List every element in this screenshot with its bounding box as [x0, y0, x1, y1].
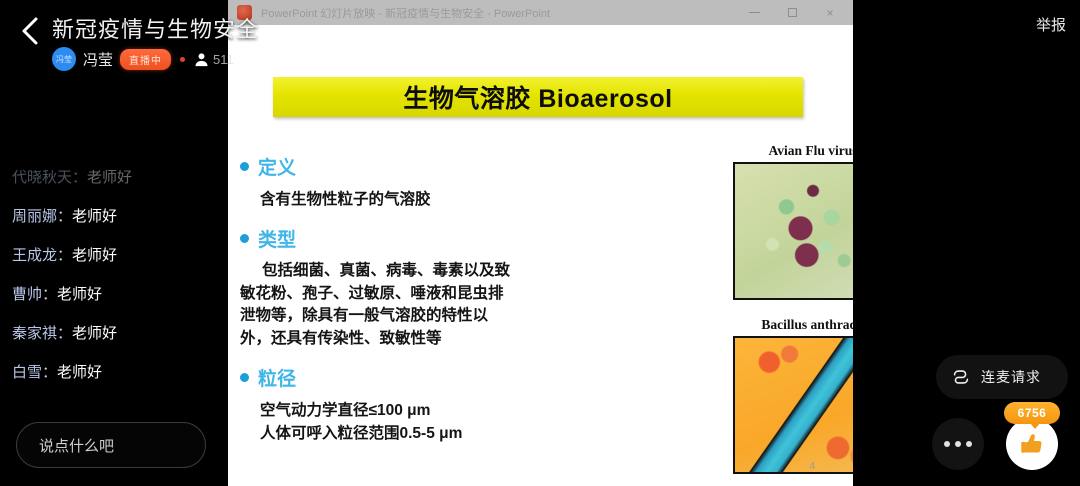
link-mic-icon: [950, 366, 972, 388]
maximize-button[interactable]: [773, 0, 811, 25]
slide-section-definition: 定义 含有生物性粒子的气溶胶: [240, 153, 512, 211]
powerpoint-window: PowerPoint 幻灯片放映 - 新冠疫情与生物安全 - PowerPoin…: [228, 0, 853, 486]
slide-section-particle-size: 粒径 空气动力学直径≤100 μm 人体可呼入粒径范围0.5-5 μm: [240, 364, 512, 446]
photo-image-avian-flu: [733, 162, 853, 300]
bullet-heading: 定义: [240, 153, 512, 180]
chat-text: 老师好: [72, 208, 117, 225]
chat-username: 曹帅: [12, 286, 42, 303]
host-info-row[interactable]: 冯莹 冯莹 直播中 511: [52, 47, 234, 71]
live-header: 新冠疫情与生物安全 冯莹 冯莹 直播中 511: [0, 0, 300, 100]
chat-message: 周丽娜：老师好: [12, 209, 216, 224]
bullet-dot-icon: [240, 373, 249, 382]
like-count-badge: 6756: [1004, 402, 1060, 424]
chat-text: 老师好: [72, 325, 117, 342]
live-status-badge: 直播中: [120, 49, 171, 70]
slide-canvas: 生物气溶胶 Bioaerosol 定义 含有生物性粒子的气溶胶 类型 包括细菌、…: [228, 25, 853, 486]
bullet-dot-icon: [240, 234, 249, 243]
ellipsis-icon: [944, 441, 950, 447]
mic-request-label: 连麦请求: [981, 367, 1041, 387]
back-button[interactable]: [18, 14, 44, 48]
photo-caption: Bacillus anthracis: [733, 317, 853, 333]
chat-text: 老师好: [72, 247, 117, 264]
bullet-dot-icon: [240, 162, 249, 171]
chat-separator: ：: [42, 286, 57, 303]
window-title: PowerPoint 幻灯片放映 - 新冠疫情与生物安全 - PowerPoin…: [261, 5, 550, 21]
chat-message-list[interactable]: 代晓秋天：老师好 周丽娜：老师好 王成龙：老师好 曹帅：老师好 秦家祺：老师好 …: [0, 170, 228, 400]
mic-request-button[interactable]: 连麦请求: [936, 355, 1068, 399]
chat-separator: ：: [42, 364, 57, 381]
section-heading-definition: 定义: [258, 153, 296, 180]
person-icon: [194, 52, 209, 67]
room-title: 新冠疫情与生物安全: [52, 12, 259, 44]
chat-username: 代晓秋天: [12, 170, 72, 186]
report-button[interactable]: 举报: [1036, 14, 1066, 35]
chat-input[interactable]: 说点什么吧: [16, 422, 206, 468]
chat-message: 王成龙：老师好: [12, 248, 216, 263]
section-text-definition: 含有生物性粒子的气溶胶: [240, 188, 512, 211]
photo-image-bacillus: [733, 336, 853, 474]
photo-bacillus: Bacillus anthracis: [733, 317, 853, 474]
chat-message: 秦家祺：老师好: [12, 326, 216, 341]
slide-title-bar: 生物气溶胶 Bioaerosol: [273, 77, 803, 117]
section-heading-particle-size: 粒径: [258, 364, 296, 391]
chat-text: 老师好: [87, 170, 132, 186]
slide-number: 4: [809, 461, 815, 472]
photo-caption: Avian Flu virus: [733, 143, 853, 159]
slide-title: 生物气溶胶 Bioaerosol: [403, 79, 672, 115]
live-stream-screen: PowerPoint 幻灯片放映 - 新冠疫情与生物安全 - PowerPoin…: [0, 0, 1080, 486]
host-name: 冯莹: [83, 49, 113, 70]
recording-dot-icon: [180, 57, 185, 62]
chat-text: 老师好: [57, 364, 102, 381]
more-options-button[interactable]: [932, 418, 984, 470]
powerpoint-titlebar: PowerPoint 幻灯片放映 - 新冠疫情与生物安全 - PowerPoin…: [228, 0, 853, 25]
window-controls: ×: [735, 0, 849, 25]
section-text-particle-size-2: 人体可呼入粒径范围0.5-5 μm: [240, 422, 512, 445]
bullet-heading: 粒径: [240, 364, 512, 391]
ellipsis-icon: [966, 441, 972, 447]
section-text-particle-size-1: 空气动力学直径≤100 μm: [240, 399, 512, 422]
chat-username: 秦家祺: [12, 325, 57, 342]
minimize-icon: [749, 12, 760, 13]
chat-message: 白雪：老师好: [12, 365, 216, 380]
section-heading-types: 类型: [258, 225, 296, 252]
chat-separator: ：: [72, 170, 87, 186]
chat-separator: ：: [57, 208, 72, 225]
avatar[interactable]: 冯莹: [52, 47, 76, 71]
photo-avian-flu: Avian Flu virus: [733, 143, 853, 300]
section-text-types: 包括细菌、真菌、病毒、毒素以及致敏花粉、孢子、过敏原、唾液和昆虫排泄物等，除具有…: [240, 260, 512, 350]
ellipsis-icon: [955, 441, 961, 447]
close-button[interactable]: ×: [811, 0, 849, 25]
like-button[interactable]: 6756: [1006, 418, 1058, 470]
chat-username: 王成龙: [12, 247, 57, 264]
thumbs-up-icon: [1017, 429, 1047, 459]
slide-body: 定义 含有生物性粒子的气溶胶 类型 包括细菌、真菌、病毒、毒素以及致敏花粉、孢子…: [240, 153, 512, 446]
chat-message: 代晓秋天：老师好: [12, 170, 216, 185]
bullet-heading: 类型: [240, 225, 512, 252]
chat-username: 白雪: [12, 364, 42, 381]
chat-message: 曹帅：老师好: [12, 287, 216, 302]
slide-section-types: 类型 包括细菌、真菌、病毒、毒素以及致敏花粉、孢子、过敏原、唾液和昆虫排泄物等，…: [240, 225, 512, 350]
chevron-left-icon: [21, 16, 41, 46]
viewer-count-group: 511: [194, 52, 234, 67]
maximize-icon: [788, 8, 797, 17]
chat-username: 周丽娜: [12, 208, 57, 225]
chat-separator: ：: [57, 325, 72, 342]
chat-separator: ：: [57, 247, 72, 264]
viewer-count: 511: [213, 52, 234, 67]
minimize-button[interactable]: [735, 0, 773, 25]
chat-text: 老师好: [57, 286, 102, 303]
